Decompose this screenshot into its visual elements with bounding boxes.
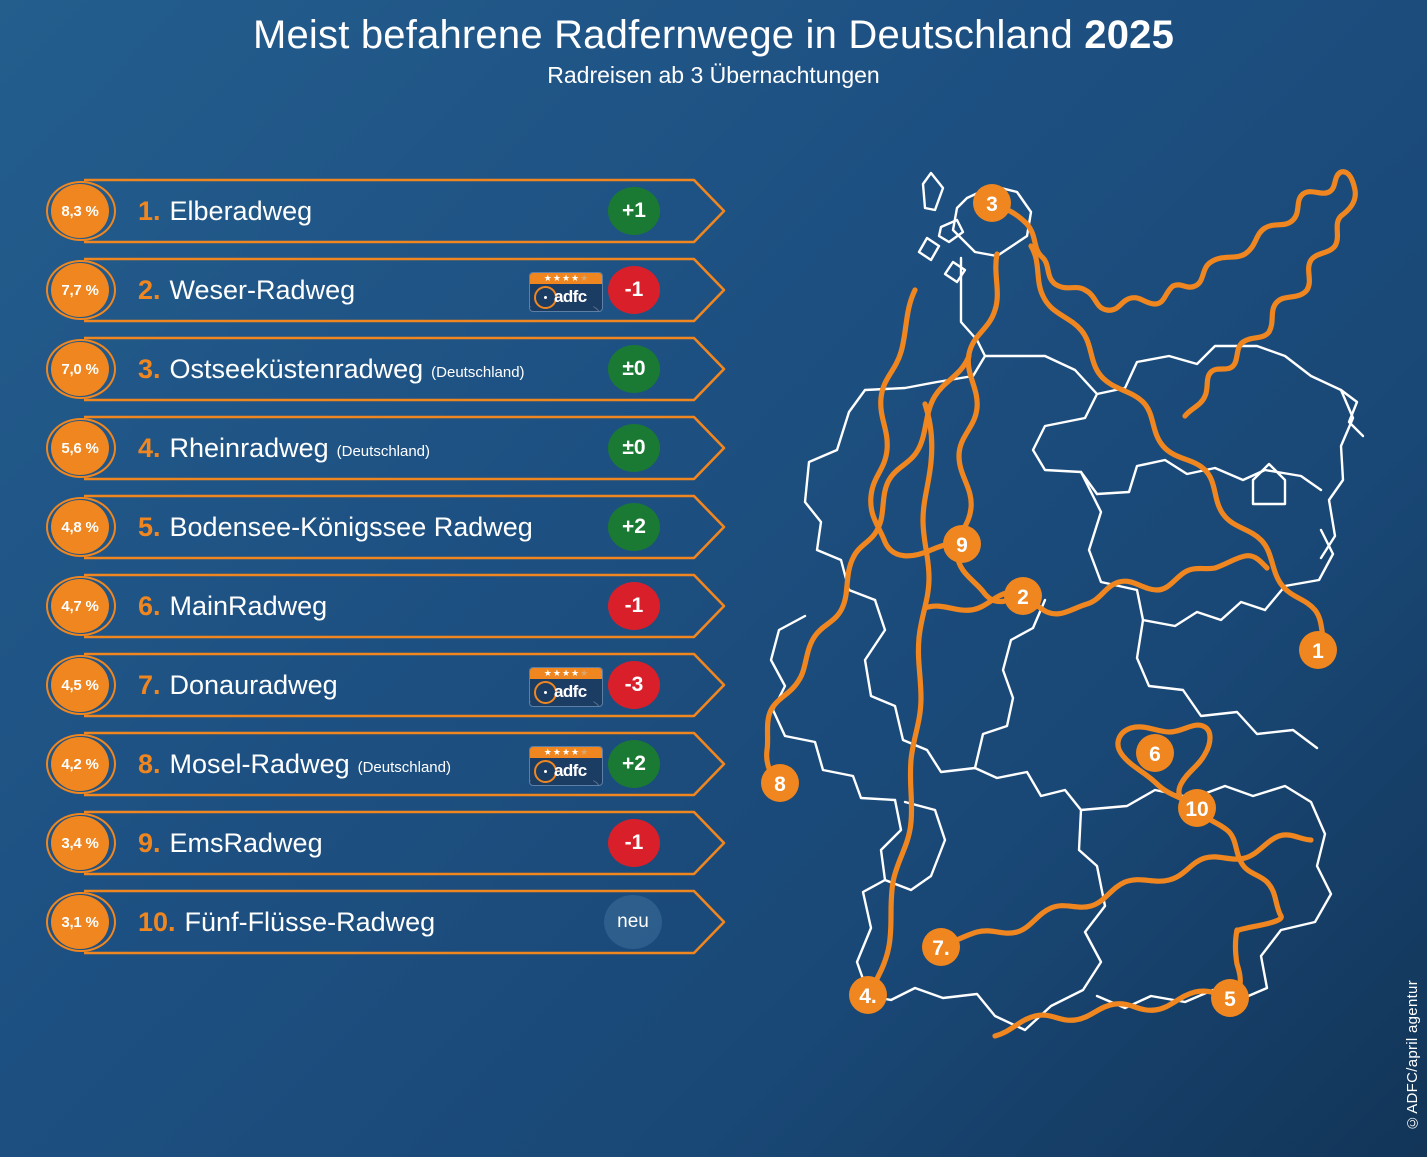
rank-change-badge: +2 bbox=[608, 740, 660, 788]
svg-text:5: 5 bbox=[1224, 988, 1236, 1011]
route-rank: 7. bbox=[138, 670, 161, 701]
percentage-value: 8,3 % bbox=[61, 203, 98, 220]
route-rank: 9. bbox=[138, 828, 161, 859]
route-label: 1.Elberadweg bbox=[138, 176, 312, 246]
adfc-body: adfc bbox=[530, 284, 602, 312]
adfc-body: adfc bbox=[530, 679, 602, 707]
route-name: MainRadweg bbox=[170, 591, 328, 622]
map-cycle-routes bbox=[767, 172, 1356, 1036]
svg-text:6: 6 bbox=[1149, 743, 1161, 766]
percentage-badge: 4,7 % bbox=[46, 576, 118, 638]
ranking-row: 7,0 %3.Ostseeküstenradweg(Deutschland)±0 bbox=[46, 334, 726, 404]
percentage-badge: 4,8 % bbox=[46, 497, 118, 559]
rank-change-badge: +2 bbox=[608, 503, 660, 551]
route-rank: 4. bbox=[138, 433, 161, 464]
route-label: 8.Mosel-Radweg(Deutschland) bbox=[138, 729, 451, 799]
percentage-value: 4,8 % bbox=[61, 519, 98, 536]
percentage-badge: 4,2 % bbox=[46, 734, 118, 796]
star-icon: ★ bbox=[553, 747, 561, 758]
star-empty-icon: ★ bbox=[580, 668, 588, 679]
adfc-swoosh-decoration bbox=[529, 774, 600, 786]
map-marker-2[interactable]: 2 bbox=[1004, 577, 1042, 615]
star-icon: ★ bbox=[571, 668, 579, 679]
percentage-value: 4,7 % bbox=[61, 598, 98, 615]
route-name: Ostseeküstenradweg bbox=[170, 354, 424, 385]
adfc-swoosh-decoration bbox=[529, 695, 600, 707]
route-label: 3.Ostseeküstenradweg(Deutschland) bbox=[138, 334, 525, 404]
route-name: Fünf-Flüsse-Radweg bbox=[185, 907, 436, 938]
star-empty-icon: ★ bbox=[580, 273, 588, 284]
rank-change-badge: -1 bbox=[608, 266, 660, 314]
percentage-circle: 4,8 % bbox=[51, 500, 109, 554]
star-icon: ★ bbox=[571, 273, 579, 284]
route-rank: 1. bbox=[138, 196, 161, 227]
adfc-stars: ★★★★★ bbox=[530, 747, 602, 758]
percentage-circle: 7,7 % bbox=[51, 263, 109, 317]
route-label: 9.EmsRadweg bbox=[138, 808, 323, 878]
map-marker-3[interactable]: 3 bbox=[973, 184, 1011, 222]
percentage-circle: 5,6 % bbox=[51, 421, 109, 475]
percentage-circle: 4,2 % bbox=[51, 737, 109, 791]
star-icon: ★ bbox=[544, 273, 552, 284]
percentage-badge: 7,7 % bbox=[46, 260, 118, 322]
rank-change-badge: +1 bbox=[608, 187, 660, 235]
ranking-row: 4,2 %8.Mosel-Radweg(Deutschland)★★★★★adf… bbox=[46, 729, 726, 799]
copyright-credit: ©ADFC/april agentur bbox=[1404, 980, 1421, 1131]
germany-map: 3 9 2 1 6 8 10 7. 4. 5 bbox=[745, 150, 1365, 1050]
svg-text:3: 3 bbox=[986, 193, 998, 216]
route-rank: 3. bbox=[138, 354, 161, 385]
adfc-quality-badge[interactable]: ★★★★★adfc bbox=[529, 272, 603, 312]
svg-text:1: 1 bbox=[1312, 640, 1324, 663]
svg-text:10: 10 bbox=[1185, 798, 1208, 821]
map-marker-6[interactable]: 6 bbox=[1136, 734, 1174, 772]
percentage-badge: 5,6 % bbox=[46, 418, 118, 480]
ranking-row: 5,6 %4.Rheinradweg(Deutschland)±0 bbox=[46, 413, 726, 483]
route-name: Rheinradweg bbox=[170, 433, 329, 464]
rank-change-badge: -1 bbox=[608, 582, 660, 630]
map-marker-7[interactable]: 7. bbox=[922, 928, 960, 966]
svg-text:9: 9 bbox=[956, 534, 968, 557]
route-country-suffix: (Deutschland) bbox=[337, 443, 430, 460]
ranking-row: 3,1 %10.Fünf-Flüsse-Radwegneu bbox=[46, 887, 726, 957]
page-title-year: 2025 bbox=[1084, 13, 1174, 57]
percentage-circle: 4,5 % bbox=[51, 658, 109, 712]
percentage-badge: 3,4 % bbox=[46, 813, 118, 875]
route-rank: 5. bbox=[138, 512, 161, 543]
star-icon: ★ bbox=[553, 273, 561, 284]
star-empty-icon: ★ bbox=[580, 747, 588, 758]
percentage-circle: 8,3 % bbox=[51, 184, 109, 238]
star-icon: ★ bbox=[553, 668, 561, 679]
percentage-value: 5,6 % bbox=[61, 440, 98, 457]
ranking-row: 4,7 %6.MainRadweg-1 bbox=[46, 571, 726, 641]
star-icon: ★ bbox=[562, 668, 570, 679]
percentage-value: 7,0 % bbox=[61, 361, 98, 378]
svg-text:8: 8 bbox=[774, 773, 786, 796]
route-name: Weser-Radweg bbox=[170, 275, 356, 306]
map-marker-10[interactable]: 10 bbox=[1178, 789, 1216, 827]
route-rank: 10. bbox=[138, 907, 176, 938]
adfc-swoosh-decoration bbox=[529, 300, 600, 312]
svg-text:2: 2 bbox=[1017, 586, 1029, 609]
map-marker-1[interactable]: 1 bbox=[1299, 631, 1337, 669]
ranking-row: 3,4 %9.EmsRadweg-1 bbox=[46, 808, 726, 878]
rank-change-badge: ±0 bbox=[608, 424, 660, 472]
route-label: 4.Rheinradweg(Deutschland) bbox=[138, 413, 430, 483]
percentage-badge: 4,5 % bbox=[46, 655, 118, 717]
star-icon: ★ bbox=[544, 668, 552, 679]
route-label: 10.Fünf-Flüsse-Radweg bbox=[138, 887, 435, 957]
ranking-row: 7,7 %2.Weser-Radweg★★★★★adfc-1 bbox=[46, 255, 726, 325]
rank-change-badge: ±0 bbox=[608, 345, 660, 393]
route-name: Elberadweg bbox=[170, 196, 313, 227]
adfc-stars: ★★★★★ bbox=[530, 273, 602, 284]
star-icon: ★ bbox=[571, 747, 579, 758]
map-marker-9[interactable]: 9 bbox=[943, 525, 981, 563]
ranking-list: 8,3 %1.Elberadweg+17,7 %2.Weser-Radweg★★… bbox=[46, 176, 726, 966]
route-label: 6.MainRadweg bbox=[138, 571, 327, 641]
rank-change-badge: -1 bbox=[608, 819, 660, 867]
route-rank: 8. bbox=[138, 749, 161, 780]
percentage-badge: 3,1 % bbox=[46, 892, 118, 954]
route-rank: 6. bbox=[138, 591, 161, 622]
route-name: Mosel-Radweg bbox=[170, 749, 350, 780]
percentage-value: 4,5 % bbox=[61, 677, 98, 694]
route-name: Bodensee-Königssee Radweg bbox=[170, 512, 533, 543]
ranking-row: 4,5 %7.Donauradweg★★★★★adfc-3 bbox=[46, 650, 726, 720]
route-label: 7.Donauradweg bbox=[138, 650, 338, 720]
percentage-value: 4,2 % bbox=[61, 756, 98, 773]
adfc-body: adfc bbox=[530, 758, 602, 786]
header: Meist befahrene Radfernwege in Deutschla… bbox=[0, 14, 1427, 89]
rank-change-badge: -3 bbox=[608, 661, 660, 709]
map-marker-4[interactable]: 4. bbox=[849, 976, 887, 1014]
percentage-value: 3,4 % bbox=[61, 835, 98, 852]
percentage-badge: 7,0 % bbox=[46, 339, 118, 401]
ranking-row: 4,8 %5.Bodensee-Königssee Radweg+2 bbox=[46, 492, 726, 562]
route-label: 2.Weser-Radweg bbox=[138, 255, 355, 325]
page-title-main: Meist befahrene Radfernwege in Deutschla… bbox=[253, 13, 1084, 57]
star-icon: ★ bbox=[544, 747, 552, 758]
route-name: Donauradweg bbox=[170, 670, 338, 701]
route-name: EmsRadweg bbox=[170, 828, 323, 859]
percentage-circle: 3,4 % bbox=[51, 816, 109, 870]
map-marker-5[interactable]: 5 bbox=[1211, 979, 1249, 1017]
page-subtitle: Radreisen ab 3 Übernachtungen bbox=[0, 62, 1427, 89]
rank-change-badge: neu bbox=[604, 895, 662, 949]
percentage-value: 7,7 % bbox=[61, 282, 98, 299]
percentage-badge: 8,3 % bbox=[46, 181, 118, 243]
svg-text:7.: 7. bbox=[932, 937, 950, 960]
star-icon: ★ bbox=[562, 747, 570, 758]
percentage-circle: 4,7 % bbox=[51, 579, 109, 633]
percentage-circle: 3,1 % bbox=[51, 895, 109, 949]
percentage-value: 3,1 % bbox=[61, 914, 98, 931]
percentage-circle: 7,0 % bbox=[51, 342, 109, 396]
map-marker-8[interactable]: 8 bbox=[761, 764, 799, 802]
route-country-suffix: (Deutschland) bbox=[358, 759, 451, 776]
adfc-quality-badge[interactable]: ★★★★★adfc bbox=[529, 667, 603, 707]
route-country-suffix: (Deutschland) bbox=[431, 364, 524, 381]
route-label: 5.Bodensee-Königssee Radweg bbox=[138, 492, 533, 562]
page-title: Meist befahrene Radfernwege in Deutschla… bbox=[0, 14, 1427, 56]
route-rank: 2. bbox=[138, 275, 161, 306]
ranking-row: 8,3 %1.Elberadweg+1 bbox=[46, 176, 726, 246]
svg-text:4.: 4. bbox=[859, 985, 877, 1008]
adfc-quality-badge[interactable]: ★★★★★adfc bbox=[529, 746, 603, 786]
star-icon: ★ bbox=[562, 273, 570, 284]
adfc-stars: ★★★★★ bbox=[530, 668, 602, 679]
